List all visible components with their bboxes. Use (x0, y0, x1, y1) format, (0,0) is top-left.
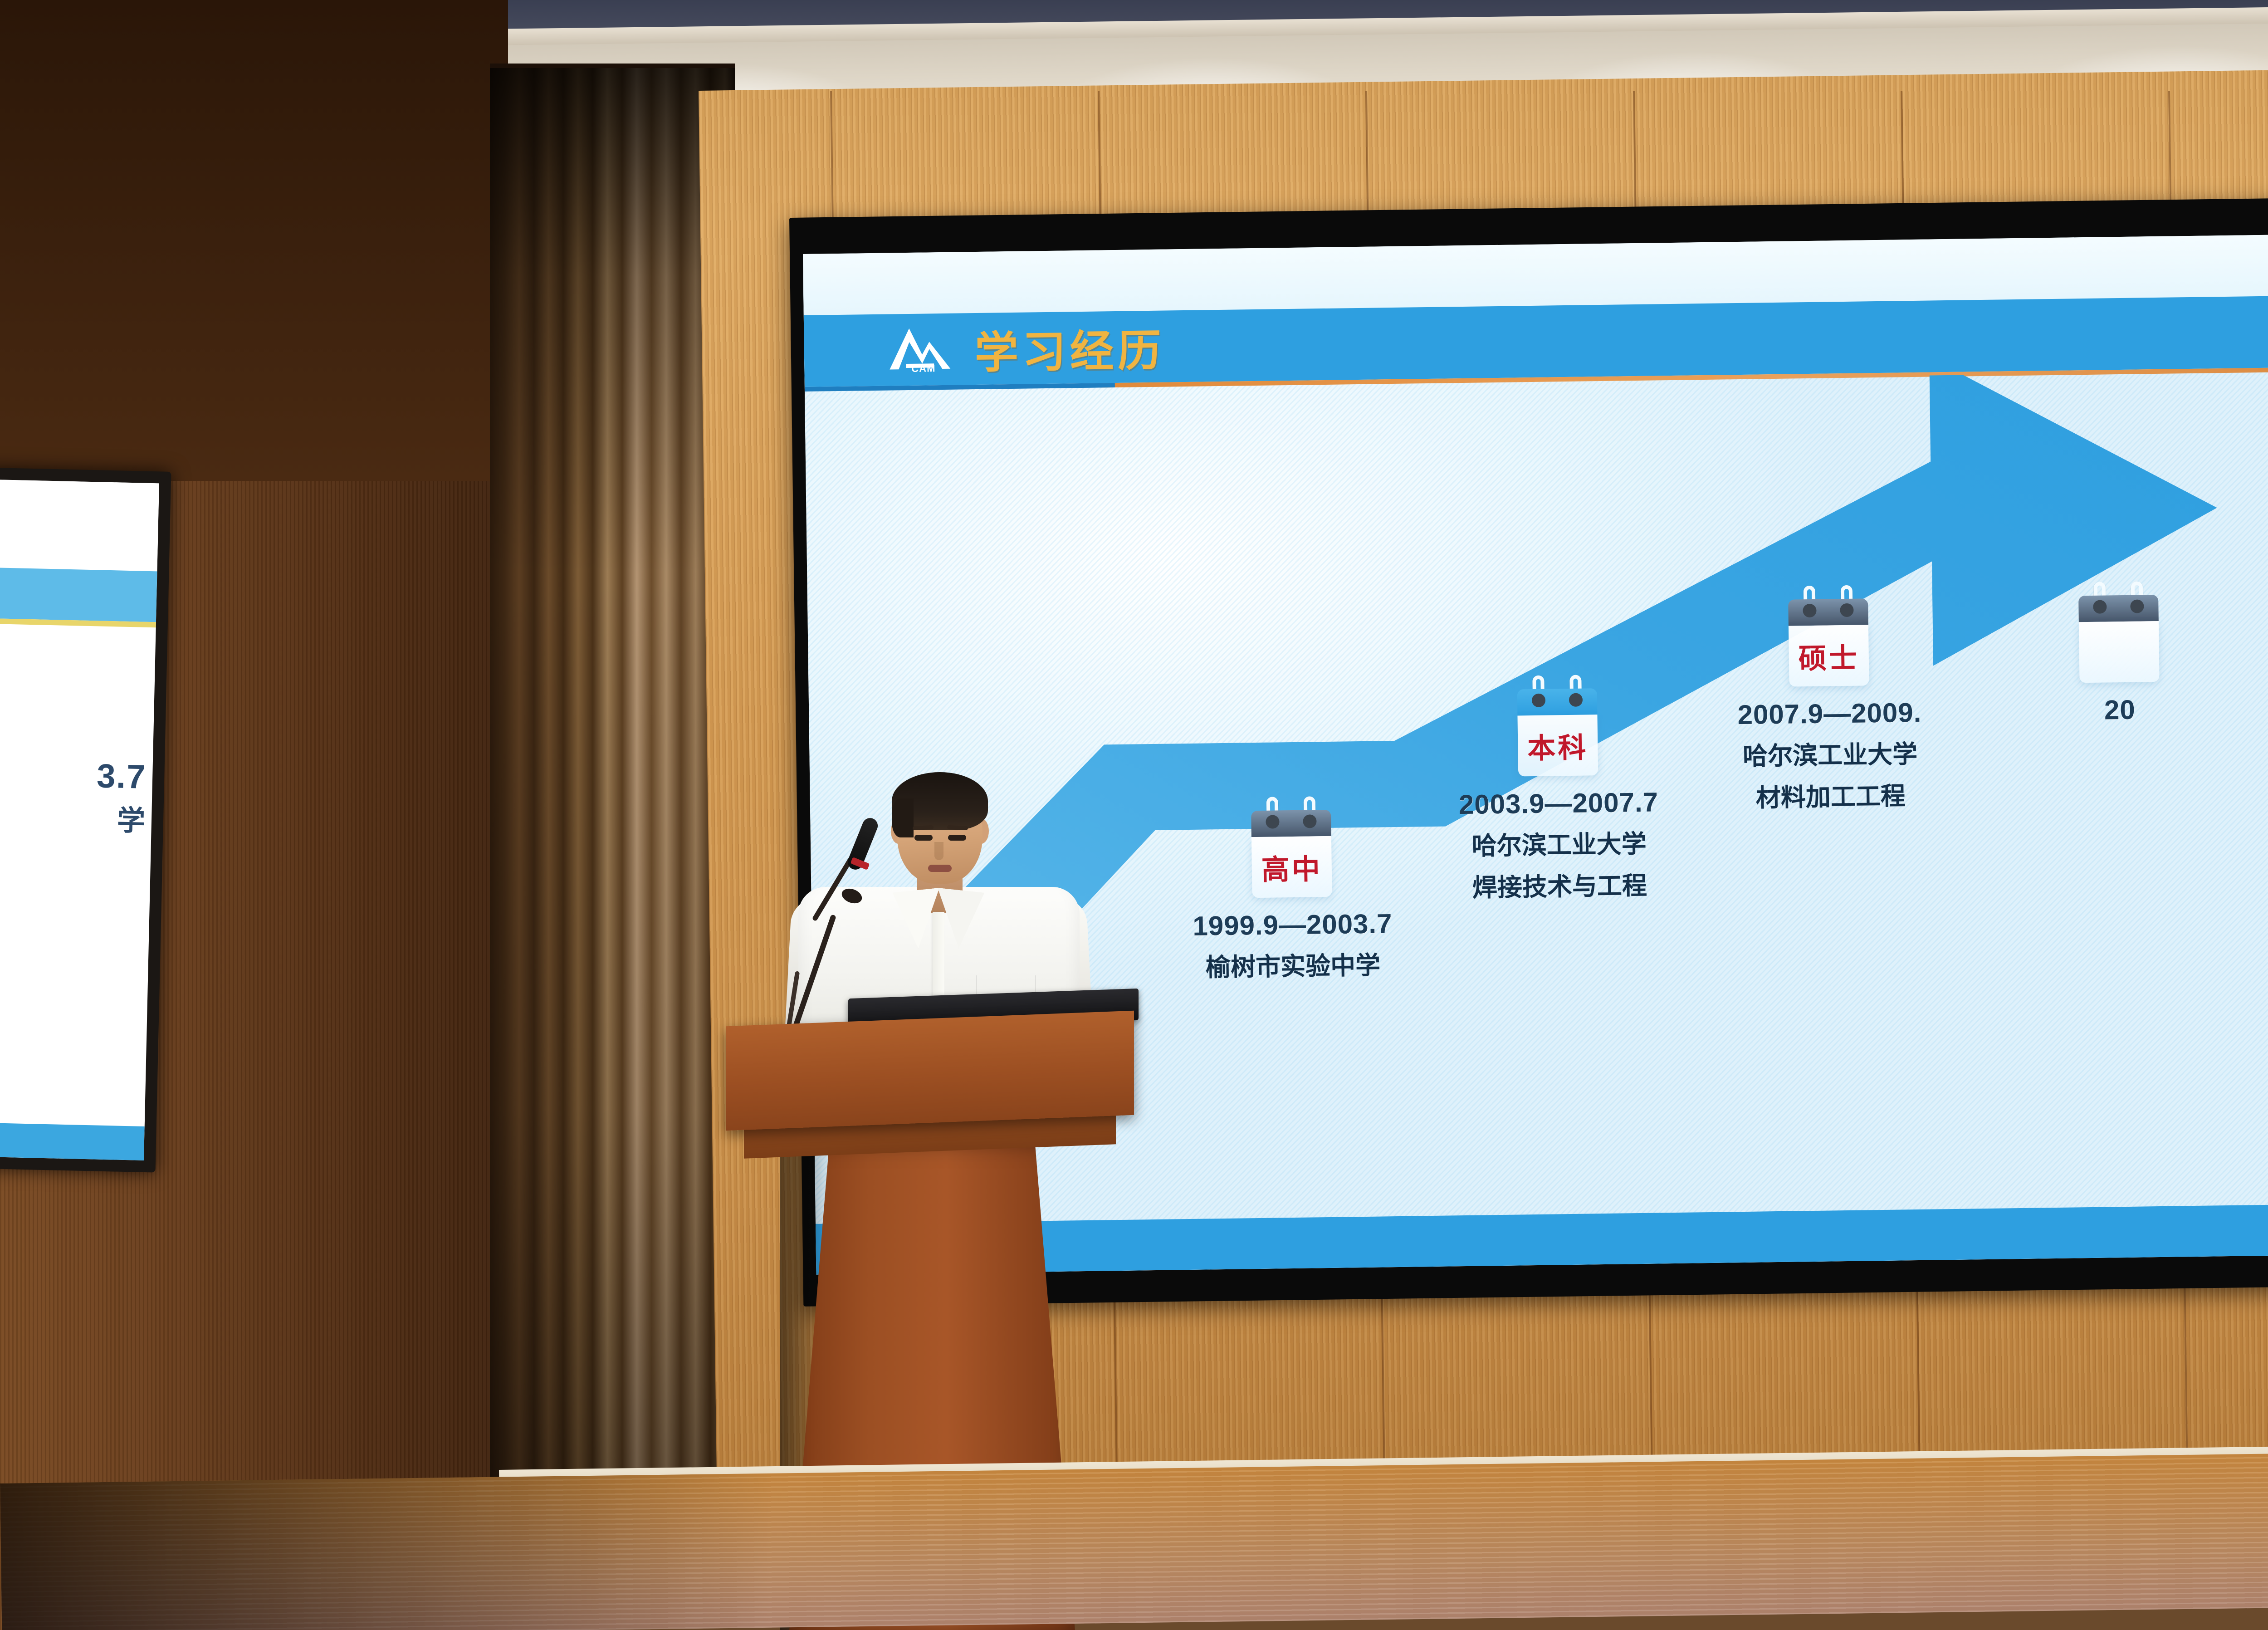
date-range: 2007.9—2009. (1671, 696, 1989, 731)
date-range: 1999.9—2003.7 (1147, 907, 1438, 942)
svg-text:CAM: CAM (911, 362, 935, 374)
calendar-dot (1266, 815, 1279, 828)
left-wall-shadow (0, 0, 508, 481)
timeline-item: 硕士 2007.9—2009. 哈尔滨工业大学 材料加工工程 (1669, 597, 1989, 815)
cam-mountain-logo-icon: CAM (885, 325, 954, 374)
date-range: 20 (1961, 692, 2268, 728)
auditorium-scene: 3.7 学 CAM 学习经历 (0, 0, 2268, 1630)
calendar-icon: 本科 (1517, 688, 1598, 776)
calendar-body: 高中 (1251, 836, 1332, 898)
monitor-date-text: 3.7 (96, 756, 147, 796)
curtain-shading (490, 68, 735, 1556)
nose (934, 842, 943, 860)
calendar-header (1788, 598, 1868, 626)
floor-shadow (0, 1473, 773, 1630)
podium-top (726, 1011, 1134, 1131)
confidence-monitor: 3.7 学 (0, 467, 171, 1172)
calendar-dot (1803, 604, 1816, 617)
calendar-dot (1303, 814, 1316, 828)
calendar-icon: 高中 (1251, 810, 1332, 898)
timeline-item-clipped: 20 (1960, 593, 2268, 728)
calendar-icon (2078, 595, 2159, 683)
stage-label: 硕士 (1798, 635, 1859, 677)
mouth (928, 865, 952, 872)
slide-title: 学习经历 (974, 315, 1166, 380)
monitor-top-strip (0, 480, 159, 571)
calendar-dot (2130, 599, 2144, 613)
stage-label: 本科 (1527, 724, 1589, 766)
institution-name: 哈尔滨工业大学 (1414, 822, 1705, 862)
eye-left (914, 835, 933, 841)
eye-right (948, 835, 966, 841)
timeline-item: 本科 2003.9—2007.7 哈尔滨工业大学 焊接技术与工程 (1412, 687, 1705, 904)
calendar-dot (1569, 693, 1583, 707)
timeline-item: 高中 1999.9—2003.7 榆树市实验中学 (1146, 808, 1438, 984)
confidence-monitor-screen: 3.7 学 (0, 480, 159, 1160)
monitor-bottom-band (0, 1123, 145, 1160)
major-name: 焊接技术与工程 (1414, 864, 1705, 904)
calendar-body: 本科 (1517, 715, 1598, 776)
institution-name: 榆树市实验中学 (1148, 944, 1438, 984)
date-range: 2003.9—2007.7 (1413, 786, 1704, 821)
calendar-dot (2093, 600, 2107, 613)
monitor-blue-band (0, 568, 157, 622)
calendar-dot (1840, 603, 1853, 617)
calendar-header (1251, 810, 1331, 837)
calendar-body (2079, 621, 2160, 683)
calendar-body: 硕士 (1789, 625, 1869, 686)
monitor-institution-text: 学 (117, 798, 146, 839)
calendar-header (1517, 688, 1598, 715)
calendar-header (2078, 595, 2159, 622)
stage-label: 高中 (1261, 846, 1322, 888)
major-name: 材料加工工程 (1672, 774, 1989, 815)
calendar-dot (1532, 694, 1545, 707)
institution-name: 哈尔滨工业大学 (1671, 733, 1989, 773)
hair-sideburn (892, 798, 914, 837)
calendar-icon: 硕士 (1788, 598, 1869, 686)
